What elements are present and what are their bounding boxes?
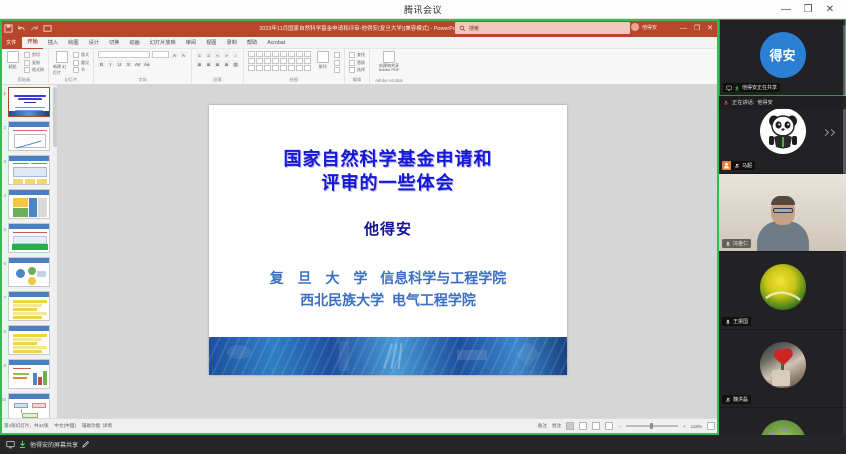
bullet-list-icon[interactable]: ≡ <box>196 51 203 58</box>
notes-toggle[interactable]: 备注 <box>538 423 547 429</box>
participant-tile-3[interactable]: 王振国 <box>719 252 846 330</box>
shape-cell-17[interactable] <box>256 65 263 71</box>
slide-thumbnail-preview[interactable] <box>8 359 50 389</box>
avatar: 得安 <box>760 32 806 78</box>
copy-button[interactable]: 复制 <box>24 60 44 66</box>
acrobat-icon <box>383 51 395 63</box>
affiliation-line2-college: 电气工程学院 <box>392 292 476 308</box>
shape-cell-22[interactable] <box>296 65 303 71</box>
format-painter-button[interactable]: 格式刷 <box>24 67 44 73</box>
create-share-pdf-label: 创建和共享 Adobe PDF <box>374 64 404 73</box>
arrange-icon <box>317 51 329 63</box>
arrange-button[interactable]: 排列 <box>314 51 331 70</box>
powerpoint-status-bar: 第1张幻灯片，共44张 中文(中国) 辅助功能: 详情 备注 批注 − + 11… <box>0 418 719 433</box>
participant-name-chip: 魏洪磊 <box>722 395 751 404</box>
participant-name: 他得安正在共享 <box>742 84 777 91</box>
participant-name: 马超 <box>742 162 752 169</box>
download-icon[interactable] <box>18 440 27 449</box>
ribbon-tab-5[interactable]: 切换 <box>104 37 124 49</box>
participant-tile-0[interactable]: 得安他得安正在共享 <box>719 19 846 96</box>
shape-cell-20[interactable] <box>280 65 287 71</box>
meeting-titlebar: 腾讯会议 — ❐ ✕ <box>0 0 846 19</box>
select-label: 选择 <box>357 67 365 73</box>
slide-count-status: 第1张幻灯片，共44张 <box>4 423 48 429</box>
slideshow-icon[interactable] <box>605 422 613 430</box>
minimize-icon[interactable]: — <box>780 5 792 15</box>
shape-cell-9[interactable] <box>256 58 263 64</box>
shape-cell-5[interactable] <box>288 51 295 57</box>
shape-outline-icon[interactable] <box>334 60 340 66</box>
zoom-in-button[interactable]: + <box>683 424 686 429</box>
find-icon <box>349 52 355 58</box>
paste-button[interactable]: 粘贴 <box>4 51 21 70</box>
shape-cell-23[interactable] <box>304 65 311 71</box>
mic-muted-icon <box>734 163 740 169</box>
slide-thumbnail-preview[interactable] <box>8 155 50 185</box>
ribbon-group-editing: 查找 替换 选择 编辑 <box>345 49 370 84</box>
slide-thumbnail-3[interactable]: 3 <box>0 153 56 187</box>
replace-button[interactable]: 替换 <box>349 60 365 66</box>
slide-thumbnail-6[interactable]: 6 <box>0 255 56 289</box>
maximize-icon[interactable]: ❐ <box>802 5 814 15</box>
close-icon[interactable]: ✕ <box>824 5 836 15</box>
shape-fill-icon[interactable] <box>334 52 340 58</box>
avatar <box>760 342 806 388</box>
font-size-input[interactable] <box>152 51 169 58</box>
reset-label: 重设 <box>81 60 89 66</box>
slide-thumbnail-number: 6 <box>1 257 6 266</box>
slide-thumbnail-number: 10 <box>1 393 6 402</box>
avatar <box>631 23 639 31</box>
shape-cell-18[interactable] <box>264 65 271 71</box>
language-status[interactable]: 中文(中国) <box>54 423 75 429</box>
slide-thumbnail-preview[interactable] <box>8 393 50 418</box>
replace-label: 替换 <box>357 60 365 66</box>
font-style-button-1[interactable]: I <box>107 60 114 67</box>
group-label-clipboard: 剪贴板 <box>4 77 44 84</box>
replace-icon <box>349 60 355 66</box>
paste-label: 粘贴 <box>9 64 17 70</box>
font-style-button-3[interactable]: S <box>125 60 132 67</box>
ribbon-group-paragraph: ≡ ≡ « » ↕ ≣ ≣ ≣ ≣ ▥ 段落 <box>192 49 244 84</box>
ribbon-tab-2[interactable]: 插入 <box>43 37 63 49</box>
new-slide-label: 新建 幻灯片 <box>53 64 70 76</box>
group-label-font: 字体 <box>98 77 187 84</box>
ribbon-body: 粘贴 剪切 复制 格式刷 <box>0 49 719 85</box>
ribbon-tab-8[interactable]: 审阅 <box>181 37 201 49</box>
comments-toggle[interactable]: 批注 <box>552 423 561 429</box>
save-icon[interactable] <box>4 24 13 33</box>
reading-view-icon[interactable] <box>592 422 600 430</box>
slide-affiliation: 复 旦 大 学 信息科学与工程学院 西北民族大学 电气工程学院 <box>209 268 567 311</box>
shared-screen-region: 2023年11月国家自然科学基金申请和评审-他得安(复旦大学)[兼容模式] - … <box>0 19 719 435</box>
slide-thumbnail-preview[interactable] <box>8 87 50 117</box>
zoom-level: 118% <box>691 424 702 429</box>
shape-gallery[interactable] <box>248 51 311 71</box>
select-icon <box>349 67 355 73</box>
fit-slide-icon[interactable] <box>707 422 715 430</box>
paste-icon <box>7 51 19 63</box>
decrease-font-icon[interactable]: A <box>180 51 187 58</box>
slide-thumbnail-preview[interactable] <box>8 189 50 219</box>
participant-name-chip: 马超 <box>722 161 755 170</box>
speaking-name: 他得安 <box>757 99 773 106</box>
screen-share-icon <box>726 85 732 91</box>
font-style-button-4[interactable]: AV <box>134 60 141 67</box>
section-icon <box>73 67 79 73</box>
avatar <box>760 108 806 154</box>
ribbon-tab-6[interactable]: 动画 <box>124 37 144 49</box>
powerpoint-titlebar: 2023年11月国家自然科学基金申请和评审-他得安(复旦大学)[兼容模式] - … <box>0 19 719 37</box>
layout-button[interactable]: 版式 <box>73 52 89 58</box>
rail-expand-chevrons[interactable] <box>815 126 841 138</box>
shape-cell-16[interactable] <box>248 65 255 71</box>
shape-cell-21[interactable] <box>288 65 295 71</box>
slide-thumbnail-1[interactable]: 1 <box>0 85 56 119</box>
account-name: 他得安 <box>642 24 657 31</box>
host-icon <box>722 161 731 170</box>
ribbon-tab-4[interactable]: 设计 <box>84 37 104 49</box>
align-left-icon[interactable]: ≣ <box>196 60 203 67</box>
shape-cell-8[interactable] <box>248 58 255 64</box>
ribbon-tab-10[interactable]: 录制 <box>221 37 241 49</box>
increase-font-icon[interactable]: A <box>171 51 178 58</box>
affiliation-line2-school: 西北民族大学 <box>300 292 384 308</box>
slide-thumbnail-preview[interactable] <box>8 121 50 151</box>
ribbon-tab-3[interactable]: 绘图 <box>63 37 83 49</box>
undo-icon[interactable] <box>17 24 26 33</box>
ribbon-tab-0[interactable]: 文件 <box>0 37 22 49</box>
ribbon-tab-1[interactable]: 开始 <box>22 36 42 49</box>
reset-icon <box>73 60 79 66</box>
slide-thumbnail-number: 5 <box>1 223 6 232</box>
ribbon-group-acrobat: 创建和共享 Adobe PDF Adobe Acrobat <box>370 49 408 84</box>
screen-share-icon <box>6 440 15 449</box>
align-right-icon[interactable]: ≣ <box>214 60 221 67</box>
avatar <box>760 264 806 310</box>
slide-thumbnail-number: 8 <box>1 325 6 334</box>
redo-icon[interactable] <box>30 24 39 33</box>
slide-title-line1: 国家自然科学基金申请和 <box>209 147 567 171</box>
font-style-button-0[interactable]: B <box>98 60 105 67</box>
ppt-minimize-icon[interactable]: — <box>680 25 687 32</box>
slide-author: 他得安 <box>209 218 567 239</box>
cut-label: 剪切 <box>32 52 40 58</box>
powerpoint-account[interactable]: 他得安 <box>631 23 657 31</box>
shape-cell-2[interactable] <box>264 51 271 57</box>
affiliation-line1-college: 信息科学与工程学院 <box>380 270 506 286</box>
meeting-taskbar: 他得安的屏幕共享 <box>0 435 846 454</box>
ribbon-group-drawing: 排列 绘图 <box>244 49 345 84</box>
shape-cell-13[interactable] <box>288 58 295 64</box>
cut-button[interactable]: 剪切 <box>24 52 44 58</box>
slide-thumbnail-9[interactable]: 9 <box>0 357 56 391</box>
screen-share-status-item[interactable]: 他得安的屏幕共享 <box>0 438 96 451</box>
slide-thumbnail-10[interactable]: 10 <box>0 391 56 418</box>
slide-thumbnail-preview[interactable] <box>8 223 50 253</box>
zoom-slider[interactable] <box>626 425 678 427</box>
slide-thumbnail-number: 4 <box>1 189 6 198</box>
slide-thumbnail-8[interactable]: 8 <box>0 323 56 357</box>
share-status-label: 他得安的屏幕共享 <box>30 440 78 449</box>
mic-muted-icon <box>725 397 731 403</box>
participant-name: 冯金仁 <box>733 240 748 247</box>
app-root: 腾讯会议 — ❐ ✕ 2023年11月国家自然科学基金申请和评审-他得安(复旦大… <box>0 0 846 454</box>
section-button[interactable]: 节 <box>73 67 89 73</box>
ppt-restore-icon[interactable]: ❐ <box>694 24 700 32</box>
slide-footer-banner <box>209 337 567 375</box>
shape-cell-12[interactable] <box>280 58 287 64</box>
layout-icon <box>73 52 79 58</box>
format-painter-icon <box>24 67 30 73</box>
accessibility-status[interactable]: 辅助功能: 详情 <box>82 423 112 429</box>
slide-title: 国家自然科学基金申请和 评审的一些体会 <box>209 147 567 196</box>
participant-name-chip: 王振国 <box>722 317 751 326</box>
participant-tile-5[interactable]: 魏艳娟 <box>719 408 846 435</box>
font-style-button-2[interactable]: U <box>116 60 123 67</box>
shape-effects-icon[interactable] <box>334 67 340 73</box>
ribbon-group-slides: 新建 幻灯片 版式 重设 节 <box>49 49 94 84</box>
zoom-out-button[interactable]: − <box>618 424 621 429</box>
normal-view-icon[interactable] <box>566 422 574 430</box>
shape-cell-19[interactable] <box>272 65 279 71</box>
ribbon-tab-12[interactable]: Acrobat <box>262 37 290 49</box>
copy-icon <box>24 60 30 66</box>
active-speaker-banner: 正在讲话:他得安 <box>719 96 846 109</box>
select-button[interactable]: 选择 <box>349 67 365 73</box>
line-spacing-icon[interactable]: ↕ <box>232 51 239 58</box>
copy-label: 复制 <box>32 60 40 66</box>
shape-cell-10[interactable] <box>264 58 271 64</box>
find-label: 查找 <box>357 52 365 58</box>
slide-thumbnail-7[interactable]: 7 <box>0 289 56 323</box>
powerpoint-search-box[interactable]: 搜索 <box>455 22 630 34</box>
meeting-title: 腾讯会议 <box>404 3 442 16</box>
pencil-icon[interactable] <box>81 440 90 449</box>
slide-thumbnail-preview[interactable] <box>8 257 50 287</box>
group-label-acrobat: Adobe Acrobat <box>374 78 404 84</box>
participant-name: 魏洪磊 <box>733 396 748 403</box>
slide-thumbnail-number: 9 <box>1 359 6 368</box>
quick-access-toolbar[interactable] <box>0 24 52 33</box>
powerpoint-window-controls: — ❐ ✕ <box>680 19 717 37</box>
shape-cell-0[interactable] <box>248 51 255 57</box>
reset-button[interactable]: 重设 <box>73 60 89 66</box>
download-icon <box>734 85 740 91</box>
slide-thumbnail-4[interactable]: 4 <box>0 187 56 221</box>
search-placeholder: 搜索 <box>469 25 479 32</box>
new-slide-button[interactable]: 新建 幻灯片 <box>53 51 70 76</box>
current-slide[interactable]: 国家自然科学基金申请和 评审的一些体会 他得安 复 旦 大 学 信息科学与工程学… <box>209 105 567 375</box>
ppt-close-icon[interactable]: ✕ <box>707 24 713 32</box>
increase-indent-icon[interactable]: » <box>223 51 230 58</box>
slide-thumbnail-number: 3 <box>1 155 6 164</box>
cut-icon <box>24 52 30 58</box>
participant-name-chip: 他得安正在共享 <box>723 83 780 92</box>
ribbon-tab-7[interactable]: 幻灯片放映 <box>145 37 181 49</box>
group-label-drawing: 绘图 <box>248 77 340 84</box>
ribbon-tab-11[interactable]: 帮助 <box>242 37 262 49</box>
format-painter-label: 格式刷 <box>32 67 44 73</box>
slide-thumbnail-preview[interactable] <box>8 291 50 321</box>
present-icon[interactable] <box>43 24 52 33</box>
align-center-icon[interactable]: ≣ <box>205 60 212 67</box>
slide-thumbnail-number: 1 <box>1 87 6 96</box>
create-share-pdf-button[interactable]: 创建和共享 Adobe PDF <box>374 51 404 73</box>
ribbon-group-clipboard: 粘贴 剪切 复制 格式刷 <box>0 49 49 84</box>
ribbon-tab-strip[interactable]: 文件开始插入绘图设计切换动画幻灯片放映审阅视图录制帮助Acrobat <box>0 37 719 49</box>
mic-on-icon <box>725 319 731 325</box>
avatar <box>760 420 806 435</box>
layout-label: 版式 <box>81 52 89 58</box>
shape-cell-15[interactable] <box>304 58 311 64</box>
slide-thumbnail-pane[interactable]: 12345678910 <box>0 85 57 418</box>
new-slide-icon <box>56 51 68 63</box>
speaking-label: 正在讲话: <box>732 99 754 106</box>
shape-cell-4[interactable] <box>280 51 287 57</box>
group-label-editing: 编辑 <box>349 77 365 84</box>
decrease-indent-icon[interactable]: « <box>214 51 221 58</box>
slide-thumbnail-number: 7 <box>1 291 6 300</box>
search-icon <box>459 25 466 32</box>
shape-cell-3[interactable] <box>272 51 279 57</box>
participant-name: 王振国 <box>733 318 748 325</box>
shape-cell-1[interactable] <box>256 51 263 57</box>
participant-rail[interactable]: 得安他得安正在共享马超冯金仁王振国魏洪磊魏艳娟正在讲话:他得安 <box>719 19 846 435</box>
numbered-list-icon[interactable]: ≡ <box>205 51 212 58</box>
participant-tile-4[interactable]: 魏洪磊 <box>719 330 846 408</box>
slide-thumbnail-2[interactable]: 2 <box>0 119 56 153</box>
arrange-label: 排列 <box>319 64 327 70</box>
slide-thumbnail-5[interactable]: 5 <box>0 221 56 255</box>
chevron-icon <box>827 128 834 135</box>
slide-thumbnail-preview[interactable] <box>8 325 50 355</box>
justify-icon[interactable]: ≣ <box>223 60 230 67</box>
section-label: 节 <box>81 67 85 73</box>
slide-canvas-area[interactable]: 国家自然科学基金申请和 评审的一些体会 他得安 复 旦 大 学 信息科学与工程学… <box>57 85 719 418</box>
slide-title-line2: 评审的一些体会 <box>209 171 567 195</box>
shape-cell-7[interactable] <box>304 51 311 57</box>
slide-thumbnail-number: 2 <box>1 121 6 130</box>
slide-sorter-icon[interactable] <box>579 422 587 430</box>
participant-tile-2[interactable]: 冯金仁 <box>719 174 846 252</box>
columns-icon[interactable]: ▥ <box>232 60 239 67</box>
group-label-slides: 幻灯片 <box>53 77 89 84</box>
shape-cell-14[interactable] <box>296 58 303 64</box>
font-family-input[interactable] <box>98 51 150 58</box>
zoom-slider-handle[interactable] <box>650 423 653 430</box>
mic-active-icon <box>723 100 729 106</box>
font-style-buttons[interactable]: BIUSAVAa <box>98 60 150 67</box>
participant-name-chip: 冯金仁 <box>722 239 751 248</box>
affiliation-line1-school: 复 旦 大 学 <box>270 270 373 286</box>
group-label-paragraph: 段落 <box>196 77 239 84</box>
ribbon-group-font: A A BIUSAVAa 字体 <box>94 49 192 84</box>
font-style-button-5[interactable]: Aa <box>143 60 150 67</box>
shape-cell-6[interactable] <box>296 51 303 57</box>
mic-on-icon <box>725 241 731 247</box>
ribbon-tab-9[interactable]: 视图 <box>201 37 221 49</box>
shape-cell-11[interactable] <box>272 58 279 64</box>
meeting-window-controls: — ❐ ✕ <box>780 0 842 19</box>
find-button[interactable]: 查找 <box>349 52 365 58</box>
